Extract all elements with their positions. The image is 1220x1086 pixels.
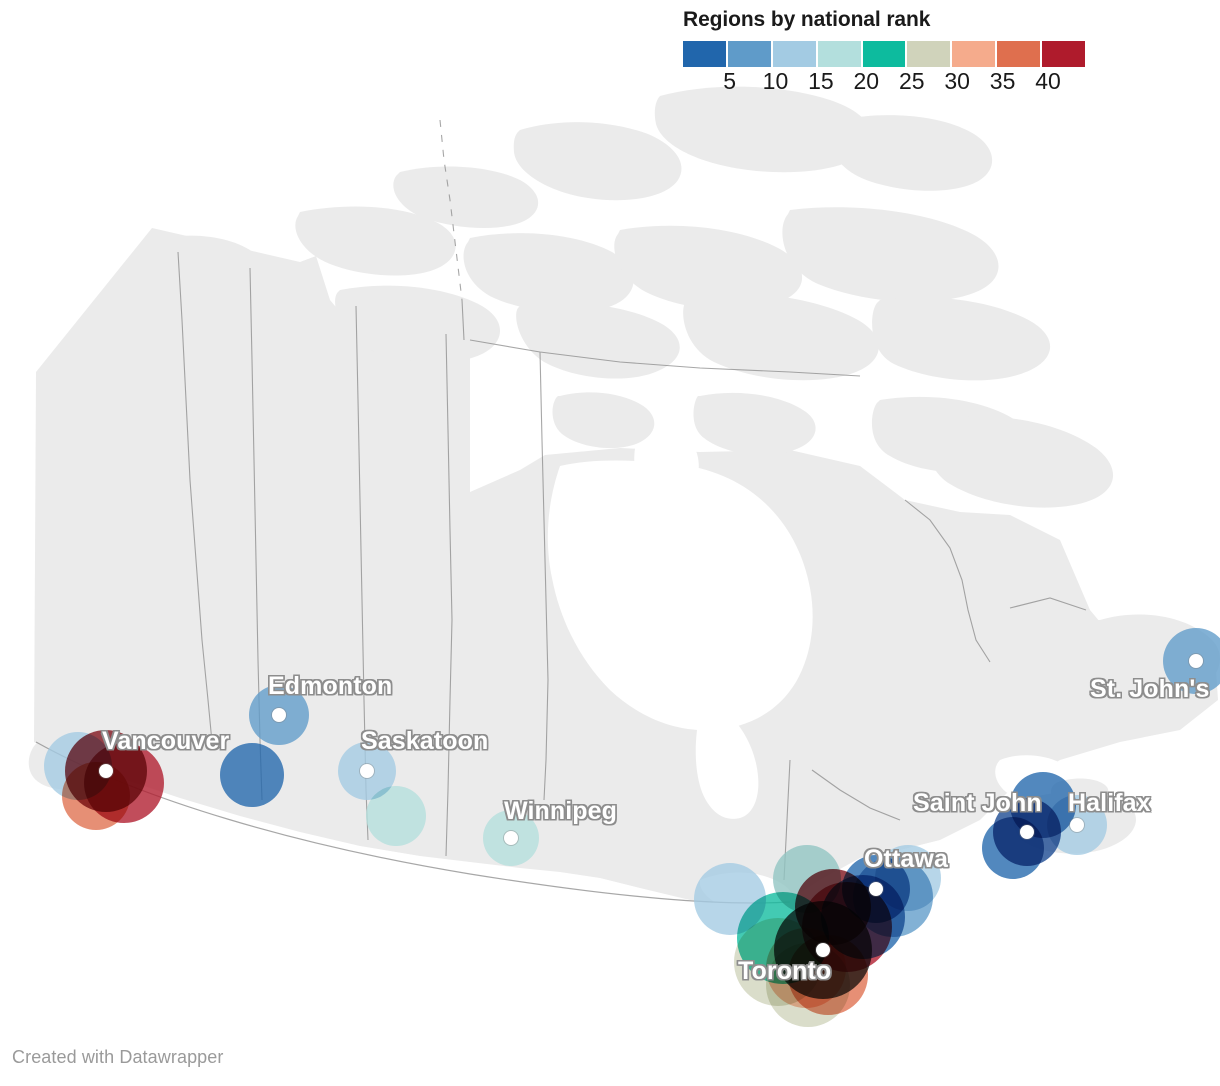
legend-swatch-9	[1042, 41, 1085, 67]
city-marker-ottawa[interactable]	[869, 882, 883, 896]
bubble-fredericton[interactable]	[982, 817, 1044, 879]
legend-tick-30: 30	[944, 68, 970, 95]
legend-swatch-1	[683, 41, 726, 67]
bubble-vancouver-area[interactable]	[84, 743, 164, 823]
legend-swatch-6	[907, 41, 950, 67]
city-marker-winnipeg[interactable]	[504, 831, 518, 845]
bubble-layer[interactable]	[0, 0, 1220, 1040]
bubble-regina[interactable]	[366, 786, 426, 846]
bubble-ottawa-area[interactable]	[875, 845, 941, 911]
legend-tick-35: 35	[990, 68, 1016, 95]
legend-swatches	[683, 41, 1085, 67]
legend-tick-5: 5	[723, 68, 736, 95]
city-marker-vancouver[interactable]	[99, 764, 113, 778]
legend-swatch-5	[863, 41, 906, 67]
legend-swatch-7	[952, 41, 995, 67]
datawrapper-credit: Created with Datawrapper	[12, 1047, 224, 1068]
legend-tick-20: 20	[854, 68, 880, 95]
legend: Regions by national rank 510152025303540	[683, 8, 1087, 93]
map-page: VancouverEdmontonSaskatoonWinnipegToront…	[0, 0, 1220, 1086]
city-marker-saskatoon[interactable]	[360, 764, 374, 778]
legend-title: Regions by national rank	[683, 8, 1087, 32]
legend-swatch-4	[818, 41, 861, 67]
legend-tick-15: 15	[808, 68, 834, 95]
city-marker-saint-john[interactable]	[1020, 825, 1034, 839]
legend-ticks: 510152025303540	[683, 67, 1085, 93]
legend-swatch-2	[728, 41, 771, 67]
city-marker-toronto[interactable]	[816, 943, 830, 957]
legend-tick-40: 40	[1035, 68, 1061, 95]
city-marker-edmonton[interactable]	[272, 708, 286, 722]
map-canvas[interactable]: VancouverEdmontonSaskatoonWinnipegToront…	[0, 0, 1220, 1040]
city-marker-st-john-s[interactable]	[1189, 654, 1203, 668]
bubble-calgary[interactable]	[220, 743, 284, 807]
legend-swatch-3	[773, 41, 816, 67]
legend-tick-10: 10	[763, 68, 789, 95]
legend-tick-25: 25	[899, 68, 925, 95]
legend-swatch-8	[997, 41, 1040, 67]
city-marker-halifax[interactable]	[1070, 818, 1084, 832]
